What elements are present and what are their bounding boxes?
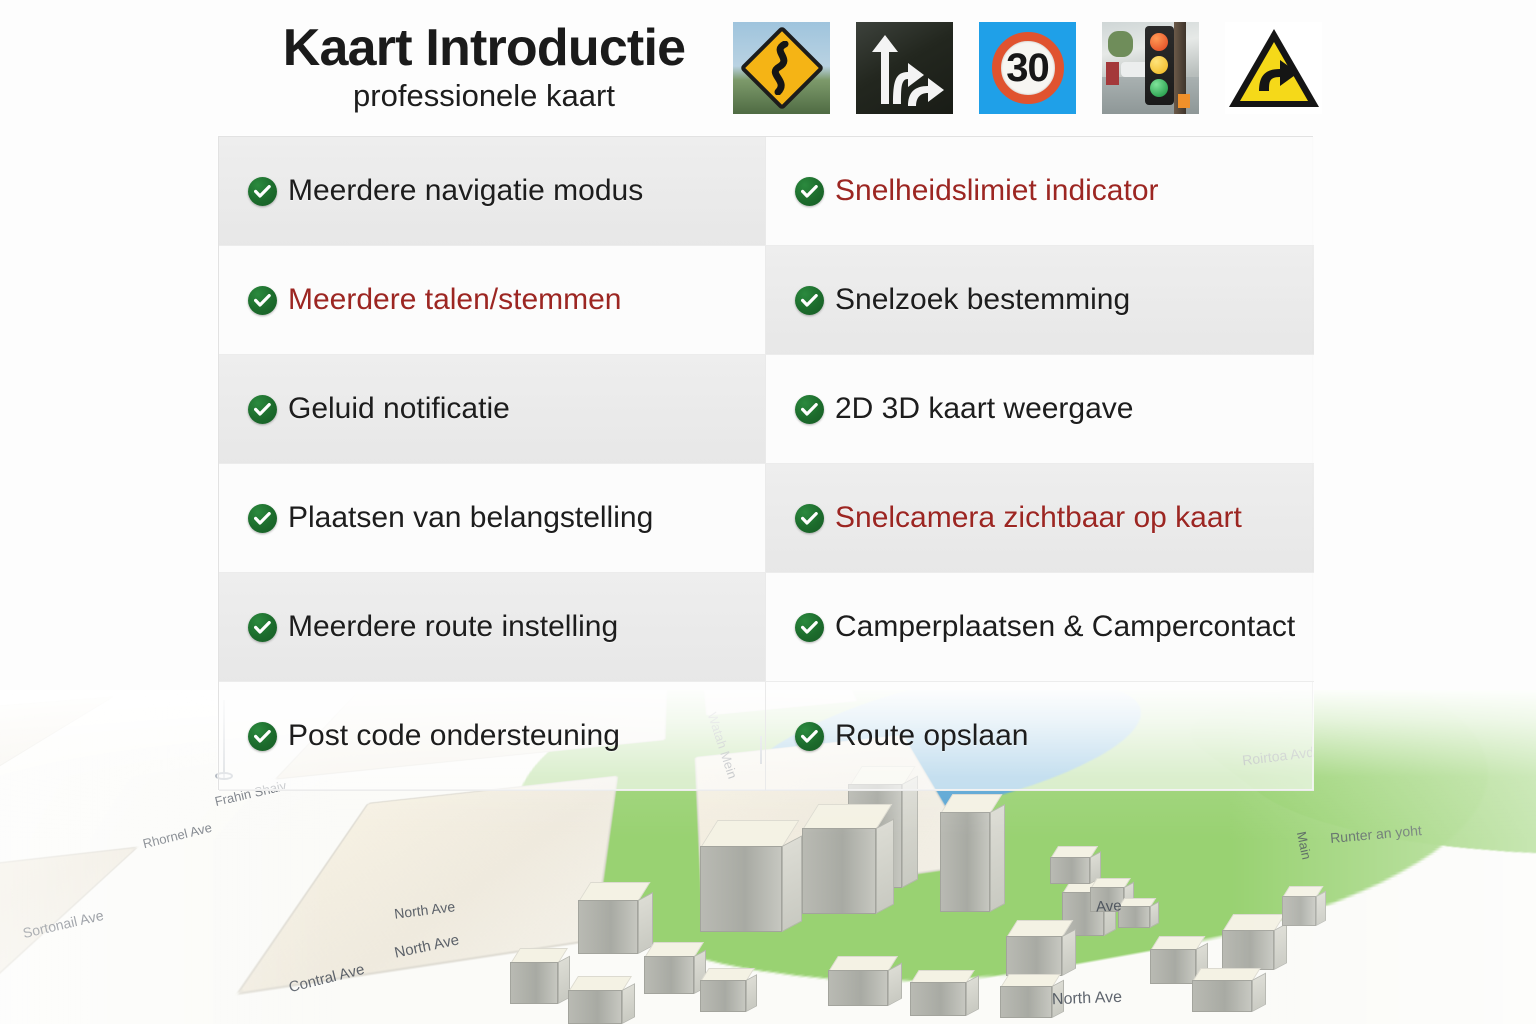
speed-limit-sign-icon: 30	[979, 22, 1076, 114]
feature-label: Snelcamera zichtbaar op kaart	[835, 501, 1242, 535]
map-building-3d	[1222, 914, 1274, 970]
page-title: Kaart Introductie	[250, 18, 718, 78]
check-circle-icon	[248, 504, 277, 533]
map-building-3d	[644, 942, 694, 994]
title-block: Kaart Introductie professionele kaart	[250, 18, 718, 115]
feature-cell[interactable]: Meerdere navigatie modus	[219, 137, 766, 246]
feature-label: Meerdere navigatie modus	[288, 174, 643, 208]
street-label: Ave	[1096, 897, 1122, 915]
check-circle-icon	[795, 177, 824, 206]
feature-label: Snelzoek bestemming	[835, 283, 1130, 317]
feature-cell[interactable]: Snelcamera zichtbaar op kaart	[766, 464, 1314, 573]
map-building-3d	[828, 956, 888, 1006]
feature-cell[interactable]: Post code ondersteuning	[219, 682, 766, 791]
lane-direction-arrows-icon	[856, 22, 953, 114]
map-building-3d	[940, 794, 990, 912]
feature-label: Meerdere talen/stemmen	[288, 283, 622, 317]
feature-cell[interactable]: Meerdere route instelling	[219, 573, 766, 682]
map-building-3d	[700, 968, 746, 1012]
map-building-3d	[802, 804, 876, 914]
map-building-3d	[510, 948, 558, 1004]
winding-road-sign-icon	[733, 22, 830, 114]
check-circle-icon	[248, 722, 277, 751]
check-circle-icon	[248, 177, 277, 206]
check-circle-icon	[248, 286, 277, 315]
map-building-3d	[568, 976, 622, 1024]
feature-cell[interactable]: Camperplaatsen & Campercontact	[766, 573, 1314, 682]
feature-cell[interactable]: Geluid notificatie	[219, 355, 766, 464]
map-building-3d	[1150, 936, 1196, 984]
check-circle-icon	[795, 286, 824, 315]
right-curve-warning-icon	[1225, 22, 1322, 114]
map-building-3d	[578, 882, 638, 954]
slide-root: North Ave Contral Ave Sortonail Ave Rhor…	[0, 0, 1536, 1024]
slide-header: Kaart Introductie professionele kaart	[0, 0, 1536, 132]
check-circle-icon	[248, 613, 277, 642]
feature-cell[interactable]: Snelheidslimiet indicator	[766, 137, 1314, 246]
check-circle-icon	[795, 722, 824, 751]
map-building-3d	[1006, 920, 1062, 976]
check-circle-icon	[795, 504, 824, 533]
feature-list-table: Meerdere navigatie modus Snelheidslimiet…	[218, 136, 1313, 790]
feature-cell[interactable]: Meerdere talen/stemmen	[219, 246, 766, 355]
feature-cell[interactable]: 2D 3D kaart weergave	[766, 355, 1314, 464]
feature-cell[interactable]: Snelzoek bestemming	[766, 246, 1314, 355]
map-building-3d	[700, 820, 782, 932]
map-building-3d	[1050, 846, 1090, 884]
feature-label: Meerdere route instelling	[288, 610, 618, 644]
check-circle-icon	[795, 395, 824, 424]
road-sign-strip: 30	[733, 22, 1322, 114]
traffic-light-icon	[1102, 22, 1199, 114]
feature-cell[interactable]: Plaatsen van belangstelling	[219, 464, 766, 573]
feature-label: 2D 3D kaart weergave	[835, 392, 1133, 426]
feature-label: Route opslaan	[835, 719, 1028, 753]
feature-label: Post code ondersteuning	[288, 719, 620, 753]
map-building-3d	[1192, 968, 1252, 1012]
speed-limit-value: 30	[1006, 48, 1049, 88]
map-building-3d	[1118, 898, 1150, 928]
check-circle-icon	[795, 613, 824, 642]
feature-cell[interactable]: Route opslaan	[766, 682, 1314, 791]
street-label: Runter an yoht	[1329, 822, 1422, 846]
map-building-3d	[910, 970, 966, 1016]
feature-label: Geluid notificatie	[288, 392, 510, 426]
page-subtitle: professionele kaart	[250, 77, 718, 115]
map-building-3d	[1000, 974, 1052, 1018]
check-circle-icon	[248, 395, 277, 424]
feature-label: Snelheidslimiet indicator	[835, 174, 1159, 208]
feature-label: Camperplaatsen & Campercontact	[835, 610, 1295, 644]
street-label: North Ave	[1052, 989, 1123, 1009]
map-building-3d	[1282, 886, 1316, 926]
feature-label: Plaatsen van belangstelling	[288, 501, 653, 535]
